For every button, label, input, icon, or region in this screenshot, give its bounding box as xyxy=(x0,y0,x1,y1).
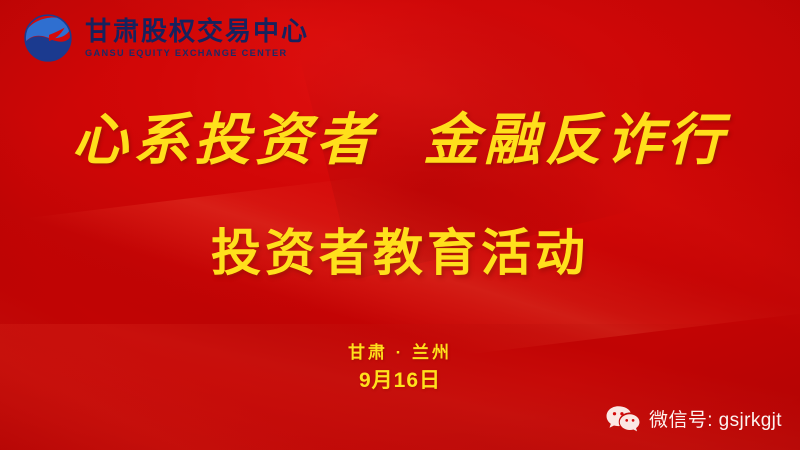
brand-name-en: GANSU EQUITY EXCHANGE CENTER xyxy=(85,49,309,58)
brand-lockup: 甘肃股权交易中心 GANSU EQUITY EXCHANGE CENTER xyxy=(22,12,309,64)
poster-canvas: 甘肃股权交易中心 GANSU EQUITY EXCHANGE CENTER 心系… xyxy=(0,0,800,450)
event-date: 9月16日 xyxy=(0,370,800,391)
headline-segment-1: 心系投资者 xyxy=(72,107,377,173)
subheadline: 投资者教育活动 xyxy=(0,228,800,278)
wechat-bubbles-icon xyxy=(606,405,640,432)
event-meta: 甘肃 · 兰州 9月16日 xyxy=(0,344,800,391)
brand-name-cn: 甘肃股权交易中心 xyxy=(85,18,309,44)
wechat-watermark: 微信号: gsjrkgjt xyxy=(606,405,782,432)
event-place: 甘肃 · 兰州 xyxy=(0,344,800,361)
wechat-id-label: 微信号: gsjrkgjt xyxy=(649,405,782,432)
headline: 心系投资者金融反诈行 xyxy=(0,112,800,168)
gansu-equity-globe-wave-logo-icon xyxy=(22,12,74,64)
headline-segment-2: 金融反诈行 xyxy=(423,107,728,173)
brand-text-block: 甘肃股权交易中心 GANSU EQUITY EXCHANGE CENTER xyxy=(85,18,309,58)
